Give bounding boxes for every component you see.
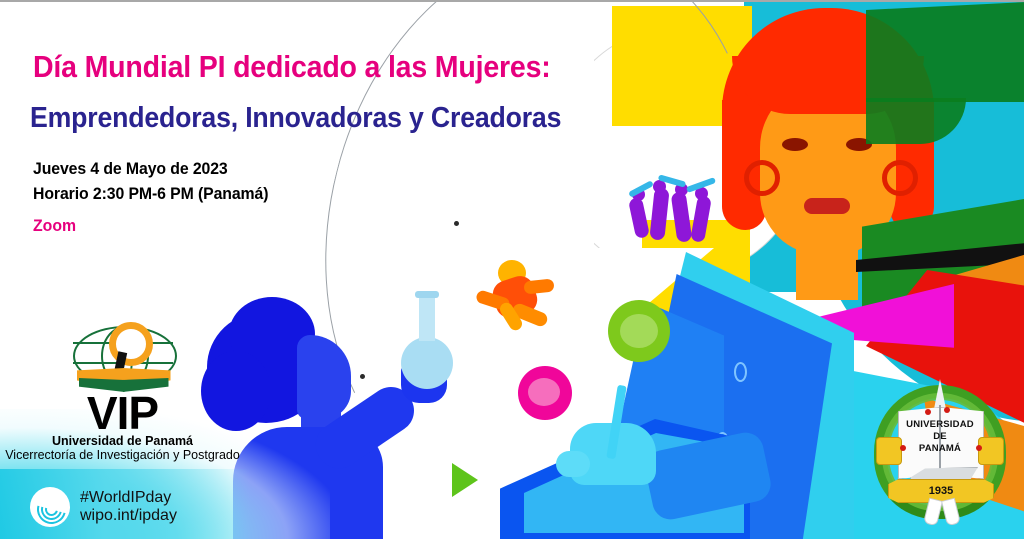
globe-magnifier-book-icon <box>67 324 179 390</box>
dancer-3 <box>671 191 693 243</box>
seal-line-3: PANAMÁ <box>898 443 982 455</box>
green-overlay-head <box>866 2 1024 102</box>
vip-department: Vicerrectoría de Investigación y Postgra… <box>0 448 245 462</box>
green-play-triangle-icon <box>452 463 478 497</box>
flask-body <box>401 337 453 389</box>
mouth-shape <box>804 198 850 214</box>
event-platform: Zoom <box>33 214 424 239</box>
earring-right <box>882 160 918 196</box>
book-base-left <box>79 378 125 392</box>
neck-shape <box>796 230 858 300</box>
berry-3 <box>900 445 906 451</box>
event-poster: Día Mundial PI dedicado a las Mujeres: E… <box>0 0 1024 539</box>
astronaut-arm-right <box>523 278 554 294</box>
event-date: Jueves 4 de Mayo de 2023 <box>33 157 424 182</box>
arc-dot-1 <box>454 221 459 226</box>
thumb-shape <box>556 451 590 477</box>
page-title: Día Mundial PI dedicado a las Mujeres: <box>33 50 640 85</box>
green-circle-icon <box>608 300 670 362</box>
dancers-icon <box>628 180 720 248</box>
vip-organization: Universidad de Panamá <box>0 434 245 448</box>
astronaut-icon <box>478 260 566 332</box>
book-base-right <box>123 378 169 392</box>
dancer-4 <box>690 195 712 243</box>
flask-neck <box>419 295 435 341</box>
event-time: Horario 2:30 PM-6 PM (Panamá) <box>33 182 424 207</box>
seal-text: UNIVERSIDAD DE PANAMÁ <box>898 419 982 455</box>
dancer-1 <box>628 197 650 239</box>
scroll-left <box>876 437 902 465</box>
flask-lip <box>415 291 439 298</box>
berry-2 <box>944 407 950 413</box>
seal-year: 1935 <box>889 480 993 502</box>
magnifier-ring <box>109 322 153 366</box>
hand-writing-clipboard-icon <box>500 379 760 539</box>
wipo-badge[interactable]: #WorldIPday wipo.int/ipday <box>30 487 177 527</box>
wipo-hashtag: #WorldIPday <box>80 489 177 507</box>
vip-logo: VIP Universidad de Panamá Vicerrectoría … <box>0 324 245 449</box>
event-details: Jueves 4 de Mayo de 2023 Horario 2:30 PM… <box>33 157 424 239</box>
year-banner: 1935 <box>888 479 994 503</box>
seal-line-2: DE <box>898 431 982 443</box>
wipo-badge-text: #WorldIPday wipo.int/ipday <box>80 489 177 525</box>
seal-line-1: UNIVERSIDAD <box>898 419 982 431</box>
dancer-2 <box>649 187 669 240</box>
scroll-right <box>978 437 1004 465</box>
vip-acronym: VIP <box>0 391 245 435</box>
wipo-swirl-icon <box>30 487 70 527</box>
green-circle-highlight <box>620 314 658 348</box>
eye-left <box>782 138 808 151</box>
wipo-url[interactable]: wipo.int/ipday <box>80 507 177 525</box>
berry-4 <box>976 445 982 451</box>
laurel-wreath-seal-icon: UNIVERSIDAD DE PANAMÁ 1935 <box>870 379 1010 527</box>
page-subtitle: Emprendedoras, Innovadoras y Creadoras <box>30 102 674 134</box>
berry-1 <box>925 409 931 415</box>
